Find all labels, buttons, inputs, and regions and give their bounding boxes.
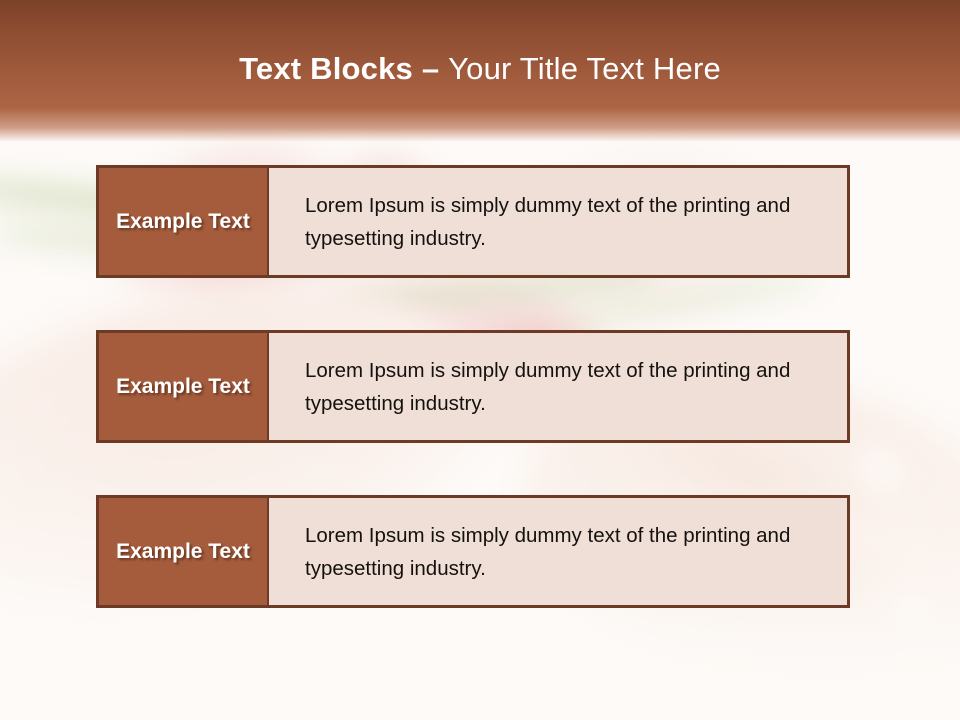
text-block[interactable]: Example Text Lorem Ipsum is simply dummy… xyxy=(96,495,850,608)
text-block-body[interactable]: Lorem Ipsum is simply dummy text of the … xyxy=(269,498,847,605)
text-block-label[interactable]: Example Text xyxy=(99,168,269,275)
page-title-rest: Your Title Text Here xyxy=(448,51,721,86)
text-block-label[interactable]: Example Text xyxy=(99,498,269,605)
text-block-body-text: Lorem Ipsum is simply dummy text of the … xyxy=(305,519,821,585)
text-block-list: Example Text Lorem Ipsum is simply dummy… xyxy=(96,165,850,660)
text-block[interactable]: Example Text Lorem Ipsum is simply dummy… xyxy=(96,165,850,278)
text-block-body-text: Lorem Ipsum is simply dummy text of the … xyxy=(305,189,821,255)
text-block-label[interactable]: Example Text xyxy=(99,333,269,440)
text-block-label-text: Example Text xyxy=(116,206,250,237)
text-block-body-text: Lorem Ipsum is simply dummy text of the … xyxy=(305,354,821,420)
slide-canvas: Text Blocks – Your Title Text Here Examp… xyxy=(0,0,960,720)
page-title-separator: – xyxy=(422,51,439,86)
page-title: Text Blocks – Your Title Text Here xyxy=(0,50,960,88)
text-block-body[interactable]: Lorem Ipsum is simply dummy text of the … xyxy=(269,333,847,440)
header-banner: Text Blocks – Your Title Text Here xyxy=(0,0,960,142)
text-block-body[interactable]: Lorem Ipsum is simply dummy text of the … xyxy=(269,168,847,275)
text-block[interactable]: Example Text Lorem Ipsum is simply dummy… xyxy=(96,330,850,443)
text-block-label-text: Example Text xyxy=(116,536,250,567)
page-title-strong: Text Blocks xyxy=(239,51,413,86)
text-block-label-text: Example Text xyxy=(116,371,250,402)
